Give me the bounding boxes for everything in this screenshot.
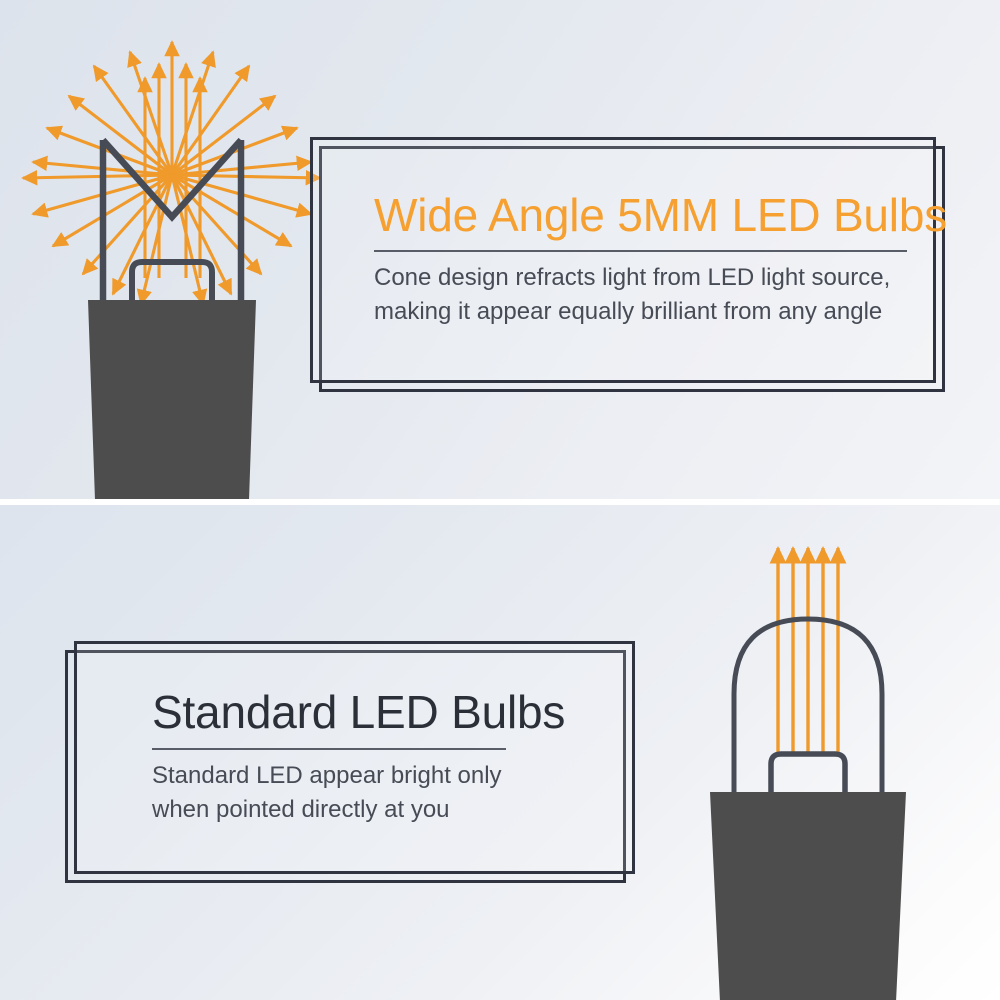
wide-angle-body: Cone design refracts light from LED ligh… xyxy=(348,261,898,329)
wide-angle-text-card: Wide Angle 5MM LED Bulbs Cone design ref… xyxy=(310,137,936,383)
body-line: Cone design refracts light from LED ligh… xyxy=(374,261,898,295)
standard-title: Standard LED Bulbs xyxy=(100,688,609,736)
bulb-base xyxy=(88,300,256,499)
body-line: making it appear equally brilliant from … xyxy=(374,295,898,329)
title-divider xyxy=(374,250,907,252)
title-divider xyxy=(152,748,506,750)
light-ray-group xyxy=(778,548,838,752)
infographic-canvas: Wide Angle 5MM LED Bulbs Cone design ref… xyxy=(0,0,1000,1000)
standard-led-bulb-illustration xyxy=(672,512,952,1000)
standard-text-card: Standard LED Bulbs Standard LED appear b… xyxy=(74,641,635,874)
wide-angle-led-bulb-illustration xyxy=(35,18,325,499)
bulb-base xyxy=(710,792,906,1000)
body-line: when pointed directly at you xyxy=(152,793,609,827)
wide-angle-title: Wide Angle 5MM LED Bulbs xyxy=(348,191,898,239)
standard-body: Standard LED appear bright only when poi… xyxy=(100,759,609,827)
panel-wide-angle: Wide Angle 5MM LED Bulbs Cone design ref… xyxy=(0,0,1000,499)
panel-standard: Standard LED Bulbs Standard LED appear b… xyxy=(0,505,1000,1000)
led-chip-bracket xyxy=(771,754,845,792)
body-line: Standard LED appear bright only xyxy=(152,759,609,793)
